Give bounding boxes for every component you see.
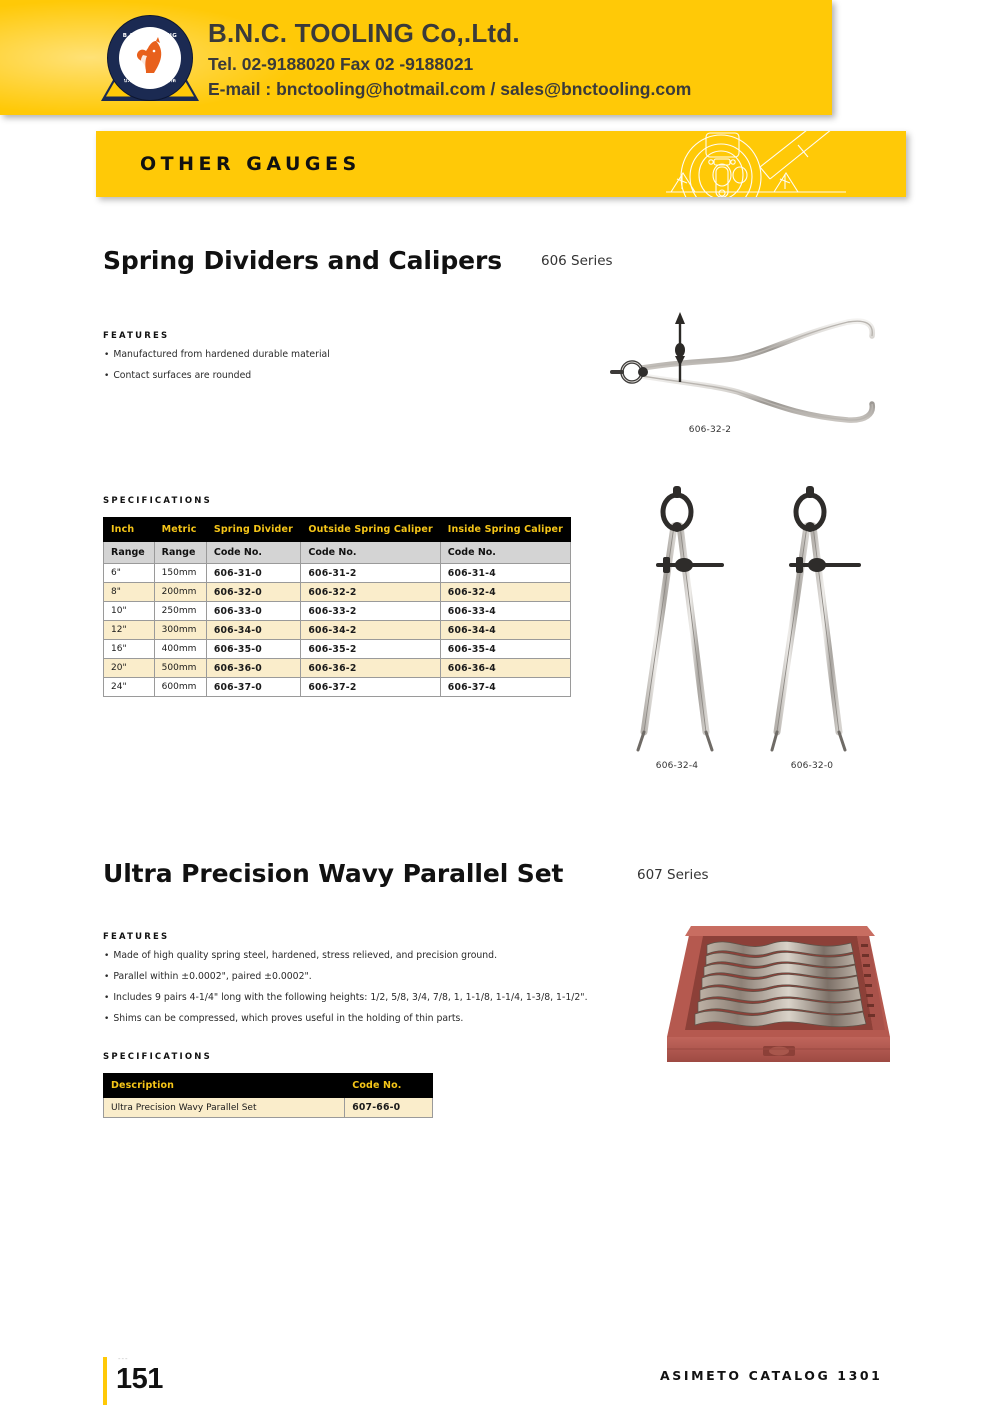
- cell-outside-code: 606-35-2: [301, 640, 440, 659]
- section-2-title: Ultra Precision Wavy Parallel Set: [103, 859, 563, 888]
- cell-inch-range: 20": [104, 659, 155, 678]
- section-1-series: 606 Series: [541, 253, 613, 269]
- image-caption: 606-32-4: [622, 761, 732, 771]
- outside-spring-caliper-photo: [598, 296, 908, 426]
- table-header-main-row: Description Code No.: [104, 1074, 433, 1098]
- cell-outside-code: 606-37-2: [301, 678, 440, 697]
- cell-divider-code: 606-34-0: [206, 621, 301, 640]
- column-subheader: Code No.: [206, 542, 301, 564]
- table-row: 6" 150mm 606-31-0 606-31-2 606-31-4: [104, 564, 571, 583]
- spring-divider-spec-table: Inch Metric Spring Divider Outside Sprin…: [103, 517, 571, 697]
- inside-spring-caliper-photo: [753, 482, 873, 757]
- phone-fax-line: Tel. 02-9188020 Fax 02 -9188021: [208, 54, 691, 75]
- cell-divider-code: 606-35-0: [206, 640, 301, 659]
- catalog-name: ASIMETO CATALOG 1301: [660, 1368, 882, 1383]
- wavy-parallel-spec-table: Description Code No. Ultra Precision Wav…: [103, 1073, 433, 1118]
- table-header-sub-row: Range Range Code No. Code No. Code No.: [104, 542, 571, 564]
- cell-divider-code: 606-36-0: [206, 659, 301, 678]
- table-row: 24" 600mm 606-37-0 606-37-2 606-37-4: [104, 678, 571, 697]
- feature-item: Includes 9 pairs 4-1/4" long with the fo…: [104, 993, 588, 1004]
- footer-accent-rule: [103, 1357, 107, 1405]
- company-logo: B.N.C. TOOLING Co.,Ltd. บ.เอ็น.ซี ทูลลิ่…: [100, 8, 200, 108]
- section-banner-title: OTHER GAUGES: [140, 153, 361, 175]
- column-subheader: Range: [104, 542, 155, 564]
- cell-code-no: 607-66-0: [345, 1098, 433, 1118]
- cell-metric-range: 400mm: [154, 640, 206, 659]
- cell-inch-range: 16": [104, 640, 155, 659]
- cell-divider-code: 606-32-0: [206, 583, 301, 602]
- cell-metric-range: 600mm: [154, 678, 206, 697]
- column-header: Code No.: [345, 1074, 433, 1098]
- section-2-series: 607 Series: [637, 867, 709, 883]
- cell-outside-code: 606-36-2: [301, 659, 440, 678]
- column-header: Spring Divider: [206, 518, 301, 542]
- section-1-specifications-label: SPECIFICATIONS: [103, 496, 212, 506]
- company-name: B.N.C. TOOLING Co,.Ltd.: [208, 18, 691, 49]
- section-1-feature-list: Manufactured from hardened durable mater…: [104, 350, 330, 392]
- section-1-title: Spring Dividers and Calipers: [103, 246, 502, 275]
- section-banner: OTHER GAUGES: [96, 131, 906, 197]
- cell-inch-range: 24": [104, 678, 155, 697]
- email-line: E-mail : bnctooling@hotmail.com / sales@…: [208, 79, 691, 100]
- cell-metric-range: 150mm: [154, 564, 206, 583]
- column-header: Description: [104, 1074, 345, 1098]
- cell-outside-code: 606-31-2: [301, 564, 440, 583]
- cell-metric-range: 250mm: [154, 602, 206, 621]
- wavy-parallel-set-box-photo: [645, 912, 910, 1072]
- page-number-mark: ---: [118, 1355, 129, 1363]
- column-header: Inch: [104, 518, 155, 542]
- column-header: Metric: [154, 518, 206, 542]
- section-1-features-label: FEATURES: [103, 331, 169, 341]
- feature-item: Made of high quality spring steel, harde…: [104, 951, 588, 962]
- cell-metric-range: 500mm: [154, 659, 206, 678]
- cell-inside-code: 606-33-4: [440, 602, 570, 621]
- table-row: 16" 400mm 606-35-0 606-35-2 606-35-4: [104, 640, 571, 659]
- spring-divider-photo: [618, 482, 738, 757]
- cell-divider-code: 606-33-0: [206, 602, 301, 621]
- cell-inch-range: 12": [104, 621, 155, 640]
- cell-inside-code: 606-34-4: [440, 621, 570, 640]
- cell-inside-code: 606-35-4: [440, 640, 570, 659]
- section-2-specifications-label: SPECIFICATIONS: [103, 1052, 212, 1062]
- image-caption: 606-32-0: [757, 761, 867, 771]
- feature-item: Parallel within ±0.0002", paired ±0.0002…: [104, 972, 588, 983]
- table-row: 20" 500mm 606-36-0 606-36-2 606-36-4: [104, 659, 571, 678]
- cell-description: Ultra Precision Wavy Parallel Set: [104, 1098, 345, 1118]
- caliper-outline-artwork-icon: [546, 131, 906, 197]
- table-row: 10" 250mm 606-33-0 606-33-2 606-33-4: [104, 602, 571, 621]
- logo-inner-disc: [119, 27, 181, 89]
- cell-inch-range: 8": [104, 583, 155, 602]
- feature-item: Contact surfaces are rounded: [104, 371, 330, 382]
- feature-item: Manufactured from hardened durable mater…: [104, 350, 330, 361]
- image-caption: 606-32-2: [660, 425, 760, 435]
- cell-metric-range: 300mm: [154, 621, 206, 640]
- cell-outside-code: 606-33-2: [301, 602, 440, 621]
- table-row: 8" 200mm 606-32-0 606-32-2 606-32-4: [104, 583, 571, 602]
- table-row: 12" 300mm 606-34-0 606-34-2 606-34-4: [104, 621, 571, 640]
- cell-inch-range: 6": [104, 564, 155, 583]
- cell-inch-range: 10": [104, 602, 155, 621]
- table-row: Ultra Precision Wavy Parallel Set 607-66…: [104, 1098, 433, 1118]
- cell-divider-code: 606-37-0: [206, 678, 301, 697]
- cell-inside-code: 606-37-4: [440, 678, 570, 697]
- section-2-feature-list: Made of high quality spring steel, harde…: [104, 951, 588, 1035]
- cell-outside-code: 606-34-2: [301, 621, 440, 640]
- section-2-features-label: FEATURES: [103, 932, 169, 942]
- cell-outside-code: 606-32-2: [301, 583, 440, 602]
- cell-inside-code: 606-36-4: [440, 659, 570, 678]
- cell-metric-range: 200mm: [154, 583, 206, 602]
- table-header-main-row: Inch Metric Spring Divider Outside Sprin…: [104, 518, 571, 542]
- column-subheader: Range: [154, 542, 206, 564]
- feature-item: Shims can be compressed, which proves us…: [104, 1014, 588, 1025]
- page-number: 151: [116, 1363, 163, 1396]
- column-header: Inside Spring Caliper: [440, 518, 570, 542]
- column-header: Outside Spring Caliper: [301, 518, 440, 542]
- header-contact-block: B.N.C. TOOLING Co,.Ltd. Tel. 02-9188020 …: [208, 18, 691, 104]
- cell-inside-code: 606-32-4: [440, 583, 570, 602]
- column-subheader: Code No.: [440, 542, 570, 564]
- cell-inside-code: 606-31-4: [440, 564, 570, 583]
- cell-divider-code: 606-31-0: [206, 564, 301, 583]
- column-subheader: Code No.: [301, 542, 440, 564]
- horse-head-icon: [126, 35, 174, 83]
